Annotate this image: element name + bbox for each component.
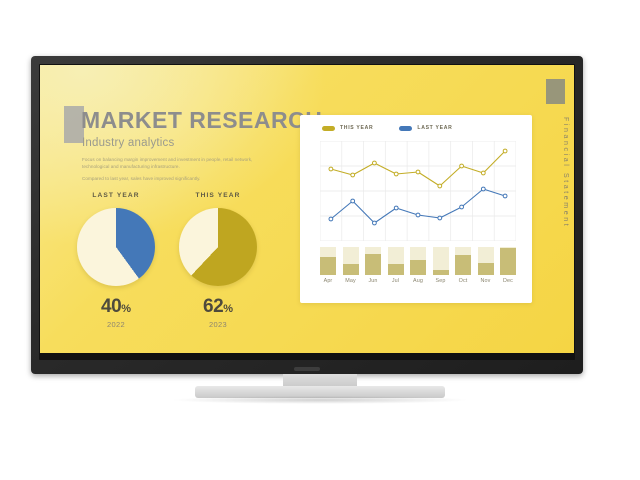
legend-swatch-icon <box>399 126 412 131</box>
line-chart <box>320 141 516 241</box>
pie-year-label: 2023 <box>166 320 270 329</box>
pie-percent-value: 40% <box>64 297 168 316</box>
chart-panel: THIS YEAR LAST YEAR AprMayJunJulAugSepOc… <box>300 115 532 303</box>
legend-item-this-year: THIS YEAR <box>322 125 373 131</box>
legend-swatch-icon <box>322 126 335 131</box>
pie-chart-title: THIS YEAR <box>166 192 270 199</box>
bar-chart <box>320 247 516 275</box>
pie-chart-title: LAST YEAR <box>64 192 168 199</box>
pie-graphic <box>179 208 257 286</box>
bar-column <box>410 247 426 275</box>
x-axis-labels: AprMayJunJulAugSepOctNovDec <box>320 278 516 284</box>
page-subtitle: Industry analytics <box>82 137 174 149</box>
pie-percent-number: 40 <box>101 296 121 317</box>
bar-fill <box>365 254 381 275</box>
presentation-slide: MARKET RESEARCH Industry analytics Focus… <box>40 65 574 353</box>
bar-fill <box>433 270 449 275</box>
side-label: Financial Statement <box>562 117 569 228</box>
bar-column <box>320 247 336 275</box>
body-paragraph-1: Focus on balancing margin improvement an… <box>82 156 278 171</box>
page-title: MARKET RESEARCH <box>81 107 322 134</box>
pie-percent-unit: % <box>121 303 131 315</box>
body-paragraph-2: Compared to last year, sales have improv… <box>82 175 278 182</box>
pie-percent-number: 62 <box>203 296 223 317</box>
x-axis-label: Oct <box>455 278 471 284</box>
x-axis-label: Aug <box>410 278 426 284</box>
pie-percent-unit: % <box>223 303 233 315</box>
slide-left-column: MARKET RESEARCH Industry analytics Focus… <box>40 65 302 353</box>
x-axis-label: Nov <box>478 278 494 284</box>
pie-chart-last-year: LAST YEAR 40% 2022 <box>64 192 168 329</box>
x-axis-label: Apr <box>320 278 336 284</box>
legend-label: THIS YEAR <box>340 125 373 131</box>
bar-fill <box>320 257 336 275</box>
x-axis-label: May <box>343 278 359 284</box>
bar-fill <box>455 255 471 275</box>
monitor-frame: MARKET RESEARCH Industry analytics Focus… <box>31 56 583 374</box>
pie-year-label: 2022 <box>64 320 168 329</box>
monitor-screen: MARKET RESEARCH Industry analytics Focus… <box>40 65 574 353</box>
bar-column <box>455 247 471 275</box>
bar-column <box>500 247 516 275</box>
pie-chart-this-year: THIS YEAR 62% 2023 <box>166 192 270 329</box>
brand-logo <box>294 367 320 371</box>
x-axis-label: Sep <box>433 278 449 284</box>
bar-column <box>365 247 381 275</box>
legend-item-last-year: LAST YEAR <box>399 125 452 131</box>
bar-column <box>478 247 494 275</box>
monitor-shadow <box>170 396 470 404</box>
bar-column <box>388 247 404 275</box>
side-accent-block <box>546 79 565 104</box>
x-axis-label: Jun <box>365 278 381 284</box>
bar-fill <box>500 248 516 275</box>
bar-fill <box>343 264 359 275</box>
bar-fill <box>388 264 404 275</box>
pie-percent-value: 62% <box>166 297 270 316</box>
legend-label: LAST YEAR <box>417 125 452 131</box>
x-axis-label: Jul <box>388 278 404 284</box>
bar-column <box>433 247 449 275</box>
bar-fill <box>478 263 494 275</box>
x-axis-label: Dec <box>500 278 516 284</box>
chart-legend: THIS YEAR LAST YEAR <box>322 125 452 131</box>
bar-column <box>343 247 359 275</box>
bar-fill <box>410 260 426 275</box>
pie-graphic <box>77 208 155 286</box>
